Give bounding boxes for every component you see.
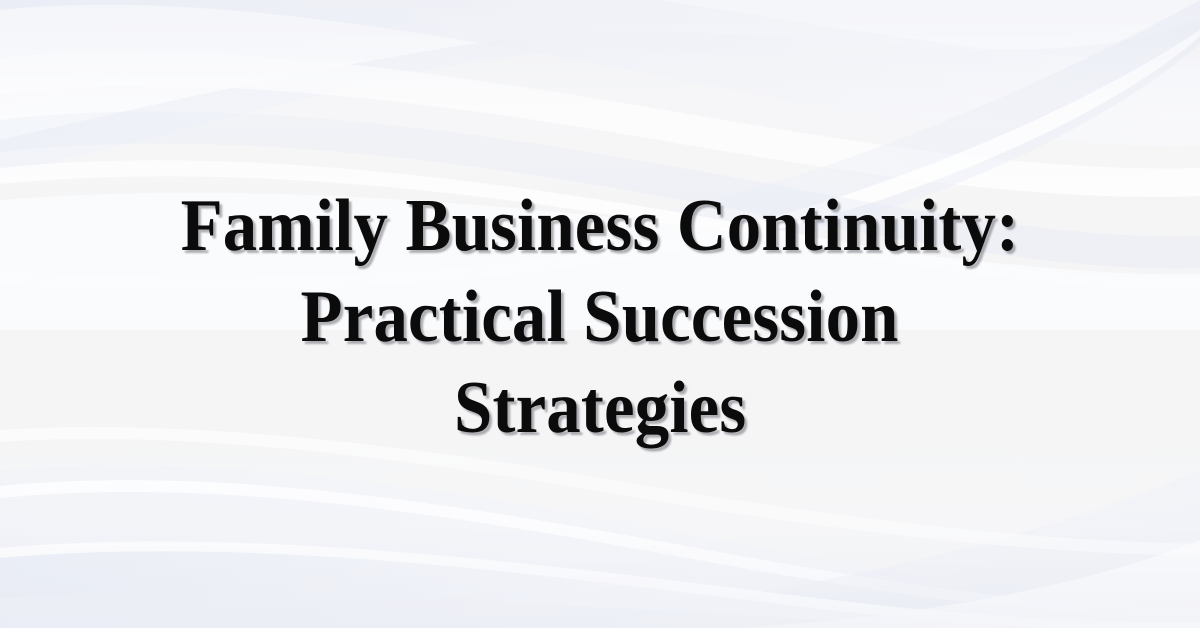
title-line-2: Practical Succession — [301, 272, 899, 363]
title-line-1: Family Business Continuity: — [181, 181, 1020, 272]
title-line-3: Strategies — [454, 363, 746, 454]
page-title: Family Business Continuity: Practical Su… — [0, 0, 1200, 628]
title-banner: Family Business Continuity: Practical Su… — [0, 0, 1200, 628]
